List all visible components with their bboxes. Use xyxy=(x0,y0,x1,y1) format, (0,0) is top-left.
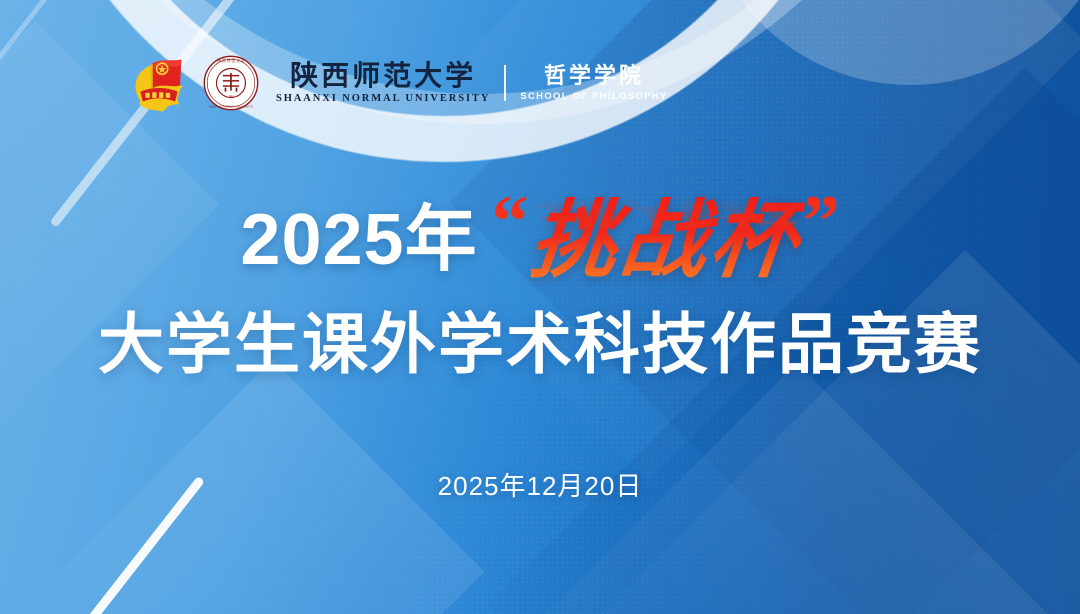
title-highlight-group: “ 挑战杯 挑战杯 ” xyxy=(492,197,840,283)
event-date: 2025年12月20日 xyxy=(0,466,1080,503)
wordmark: 陕西师范大学 SHAANXI NORMAL UNIVERSITY 哲学学院 SC… xyxy=(276,62,668,104)
svg-text:陕 西 师 范 大 学: 陕 西 师 范 大 学 xyxy=(217,58,245,63)
communist-youth-league-emblem-icon xyxy=(128,52,190,114)
title-block: 2025年 “ 挑战杯 挑战杯 ” 大学生课外学术科技作品竞赛 xyxy=(0,186,1080,382)
title-line-two: 大学生课外学术科技作品竞赛 xyxy=(0,308,1080,382)
school-name-cn: 哲学学院 xyxy=(544,64,644,88)
university-name-block: 陕西师范大学 SHAANXI NORMAL UNIVERSITY xyxy=(276,62,490,104)
school-name-en: SCHOOL OF PHILOSOPHY xyxy=(520,91,667,102)
quote-open-mark: “ xyxy=(492,185,529,259)
svg-text:1944: 1944 xyxy=(228,95,234,98)
university-name-cn: 陕西师范大学 xyxy=(290,62,476,92)
svg-text:SHAANXI NORMAL UNIVERSITY: SHAANXI NORMAL UNIVERSITY xyxy=(209,104,254,108)
shaanxi-normal-university-seal-icon: 陕 西 师 范 大 学 SHAANXI NORMAL UNIVERSITY 19… xyxy=(202,54,260,112)
school-name-block: 哲学学院 SCHOOL OF PHILOSOPHY xyxy=(520,64,667,101)
title-highlight: 挑战杯 xyxy=(526,197,805,283)
logo-lockup: 陕 西 师 范 大 学 SHAANXI NORMAL UNIVERSITY 19… xyxy=(128,48,668,118)
title-line-one: 2025年 “ 挑战杯 挑战杯 ” xyxy=(0,186,1080,294)
title-year: 2025年 xyxy=(240,204,477,276)
university-name-en: SHAANXI NORMAL UNIVERSITY xyxy=(276,93,490,104)
poster-banner: 陕 西 师 范 大 学 SHAANXI NORMAL UNIVERSITY 19… xyxy=(0,0,1080,614)
wordmark-divider xyxy=(504,65,506,101)
quote-close-mark: ” xyxy=(803,185,840,259)
